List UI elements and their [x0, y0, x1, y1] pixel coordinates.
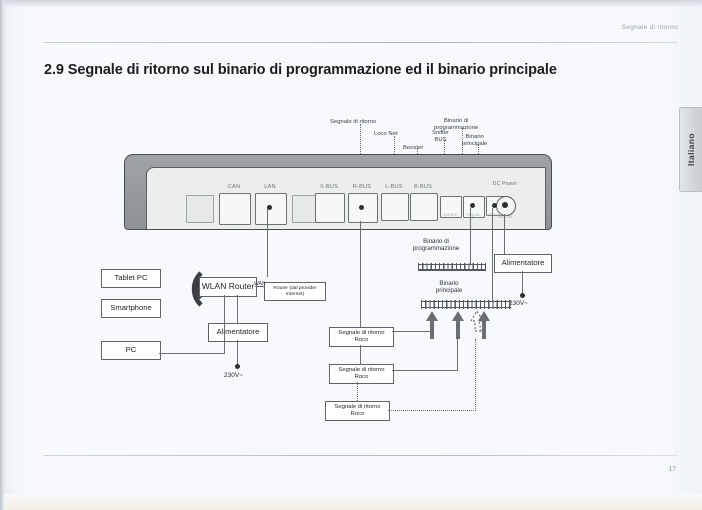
line-arrow1-drop [431, 331, 432, 339]
port-label-can: CAN [219, 184, 249, 190]
label-track-programming: Binario di programmazione [399, 238, 473, 253]
feedback-arrows [425, 309, 503, 339]
port-label-dc-power: DC Power [489, 182, 521, 188]
line-module1-to-arrow1 [392, 331, 432, 332]
wiring-diagram: Segnale di ritorno Loco Net Booster Snif… [0, 0, 702, 510]
port-can[interactable] [219, 193, 251, 225]
track-programming [418, 263, 486, 271]
line-module1-to-module2 [360, 345, 361, 364]
label-mains-left: 230V~ [224, 372, 243, 379]
label-track-main: Binario principale [420, 280, 478, 295]
line-psu-right-to-mains [522, 271, 523, 295]
line-psu-to-mains-left [237, 340, 238, 366]
line-dc-to-psu-right [504, 214, 505, 254]
box-pc[interactable]: PC [101, 341, 161, 360]
line-rbus-to-module-1 [360, 221, 361, 327]
callout-programming-track: Binario di programmazione [434, 118, 478, 132]
box-feedback-module-2[interactable]: Segnale di ritorno Roco [329, 364, 394, 384]
port-label-bbus: B-BUS [408, 184, 438, 190]
feedback-arrow-dashed [470, 309, 484, 339]
port-label-rbus: R-BUS [346, 184, 378, 190]
port-bbus[interactable] [410, 193, 438, 221]
node-mains-left [235, 364, 240, 369]
line-module2-to-arrow2 [392, 370, 458, 371]
box-feedback-module-3[interactable]: Segnale di ritorno Roco [325, 401, 390, 421]
label-mains-right: 230V~ [509, 300, 528, 307]
port-blank-1[interactable] [186, 195, 214, 223]
line-prog-port-to-track [470, 208, 471, 264]
port-sub-main: Main Track [483, 214, 505, 217]
line-module3-to-arrow3-dotted [388, 410, 476, 411]
line-router-to-psu [237, 295, 238, 323]
line-router-wan [255, 286, 265, 287]
port-sub-prog: Prog Out [461, 214, 485, 217]
port-label-lbus: L-BUS [379, 184, 409, 190]
scanned-page: Segnale di ritorno 2.9 Segnale di ritorn… [0, 0, 702, 510]
pin-rbus [359, 205, 364, 210]
line-arrow2-drop [457, 339, 458, 370]
line-main-port-to-track [492, 208, 493, 301]
port-lbus[interactable] [381, 193, 409, 221]
box-provider-router[interactable]: Router (dal provider Internet) [264, 282, 326, 301]
callout-main-track: Binario principale [462, 134, 487, 148]
port-label-xbus: X-BUS [313, 184, 345, 190]
track-main [421, 300, 511, 309]
line-arrow3-drop-dotted [475, 339, 476, 411]
box-tablet-pc[interactable]: Tablet PC [101, 269, 161, 288]
box-wlan-router[interactable]: WLAN Router [199, 277, 257, 297]
port-label-lan: LAN [255, 184, 285, 190]
box-smartphone[interactable]: Smartphone [101, 299, 161, 318]
callout-booster: Booster [403, 145, 423, 152]
line-router-to-pc-bus [224, 295, 225, 354]
callout-feedback: Segnale di ritorno [330, 119, 376, 126]
node-mains-right [520, 293, 525, 298]
port-sub-sniffer: Sniff BUS [438, 214, 462, 217]
callout-loconet: Loco Net [374, 131, 398, 138]
line-pc-to-router [159, 353, 225, 354]
box-feedback-module-1[interactable]: Segnale di ritorno Roco [329, 327, 394, 347]
port-xbus[interactable] [315, 193, 345, 223]
line-module2-to-module3-dotted [357, 382, 358, 401]
line-lan-to-router [267, 208, 268, 277]
